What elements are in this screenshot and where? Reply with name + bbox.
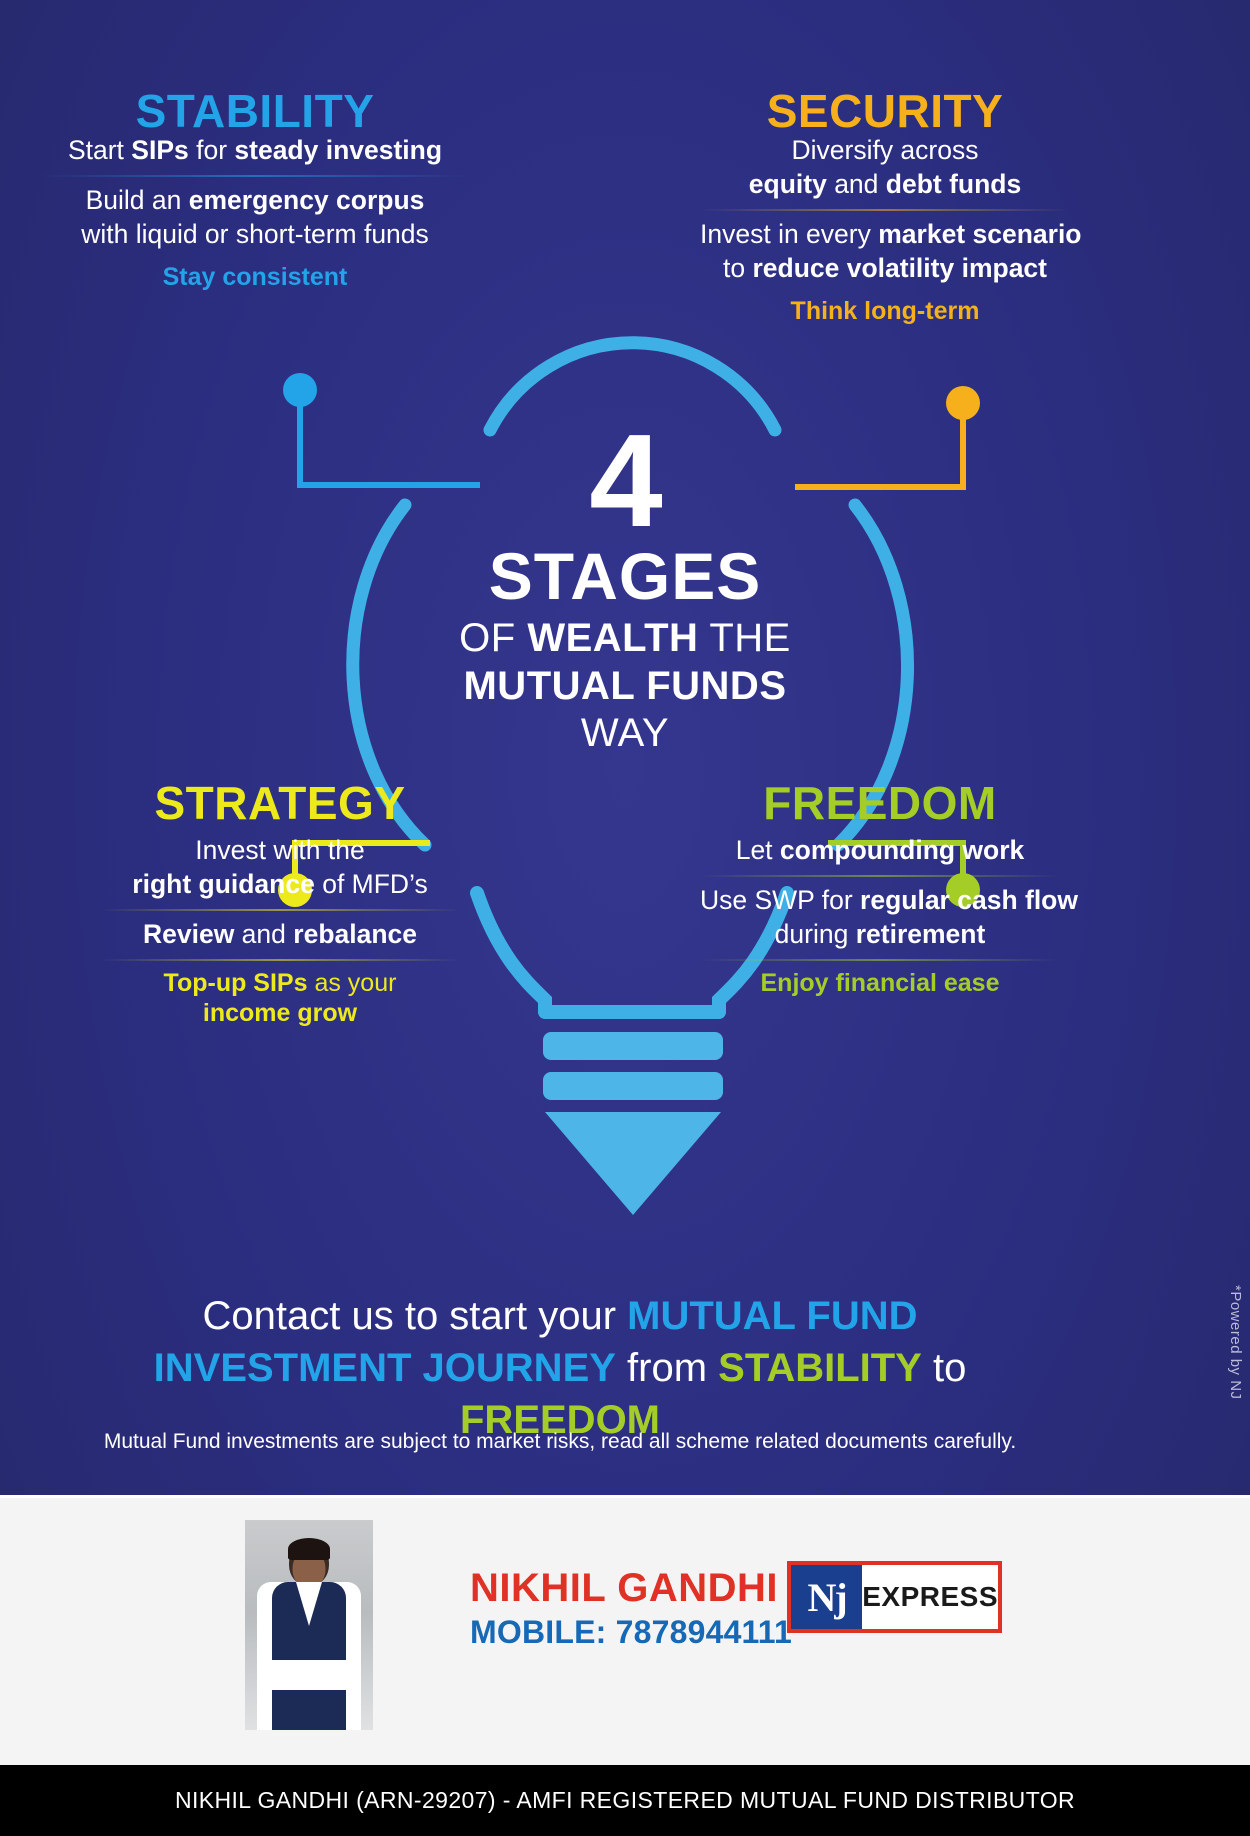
photo-hair <box>288 1538 330 1560</box>
quadrant-tag-stability: Stay consistent <box>40 262 470 292</box>
quadrant-tag-freedom: Enjoy financial ease <box>700 968 1060 998</box>
arn-text: NIKHIL GANDHI (ARN-29207) - AMFI REGISTE… <box>175 1787 1075 1814</box>
quadrant-body-freedom-b: Use SWP for regular cash flow during ret… <box>700 884 1060 952</box>
quadrant-tag-security: Think long-term <box>700 296 1070 326</box>
quadrant-freedom: FREEDOM Let compounding work Use SWP for… <box>700 780 1060 998</box>
divider-strategy-2 <box>100 959 460 961</box>
quadrant-title-stability: STABILITY <box>40 88 470 134</box>
quadrant-title-strategy: STRATEGY <box>100 780 460 826</box>
infographic-poster: 4 STAGES OF WEALTH THE MUTUAL FUNDS WAY … <box>0 0 1250 1836</box>
bulb-screw-bar-2 <box>543 1072 723 1100</box>
call-to-action: Contact us to start your MUTUAL FUND INV… <box>60 1290 1060 1446</box>
powered-by-label: *Powered by NJ <box>1227 1285 1244 1400</box>
quadrant-tag-strategy: Top-up SIPs as your income grow <box>100 968 460 1028</box>
advisor-photo <box>245 1520 373 1730</box>
bulb-base-rail <box>540 1005 725 1019</box>
divider-stability <box>40 175 470 177</box>
quadrant-body-freedom-a: Let compounding work <box>700 834 1060 868</box>
divider-security <box>700 209 1070 211</box>
quadrant-body-strategy-a: Invest with the right guidance of MFD’s <box>100 834 460 902</box>
headline-line-1: OF WEALTH THE <box>375 615 875 662</box>
advisor-details: NIKHIL GANDHI MOBILE: 7878944111 <box>470 1566 792 1651</box>
center-headline: 4 STAGES OF WEALTH THE MUTUAL FUNDS WAY <box>375 420 875 757</box>
divider-freedom-2 <box>700 959 1060 961</box>
dot-security <box>946 386 980 420</box>
divider-strategy-1 <box>100 909 460 911</box>
cta-stability: STABILITY <box>718 1346 922 1390</box>
quadrant-strategy: STRATEGY Invest with the right guidance … <box>100 780 460 1028</box>
divider-freedom-1 <box>700 875 1060 877</box>
headline-line-2: MUTUAL FUNDS <box>375 663 875 710</box>
stage-count: 4 <box>375 420 875 541</box>
quadrant-title-security: SECURITY <box>700 88 1070 134</box>
quadrant-stability: STABILITY Start SIPs for steady investin… <box>40 88 470 292</box>
dot-stability <box>283 373 317 407</box>
nj-express-logo: Nj EXPRESS <box>787 1561 1002 1633</box>
photo-arms <box>257 1660 361 1690</box>
advisor-name: NIKHIL GANDHI <box>470 1566 792 1611</box>
arn-registration-bar: NIKHIL GANDHI (ARN-29207) - AMFI REGISTE… <box>0 1765 1250 1836</box>
bulb-arrow <box>545 1112 721 1215</box>
headline-line-3: WAY <box>375 710 875 757</box>
quadrant-title-freedom: FREEDOM <box>700 780 1060 826</box>
quadrant-body-stability-b: Build an emergency corpus with liquid or… <box>40 184 470 252</box>
bulb-neck-left <box>477 893 545 1012</box>
risk-disclaimer: Mutual Fund investments are subject to m… <box>40 1430 1080 1454</box>
nj-logo-word: EXPRESS <box>862 1565 998 1629</box>
advisor-mobile[interactable]: MOBILE: 7878944111 <box>470 1613 792 1651</box>
quadrant-body-security-b: Invest in every market scenario to reduc… <box>700 218 1070 286</box>
bulb-screw-bar-1 <box>543 1032 723 1060</box>
quadrant-body-security-a: Diversify across equity and debt funds <box>700 134 1070 202</box>
contact-footer: NIKHIL GANDHI MOBILE: 7878944111 Nj EXPR… <box>0 1495 1250 1765</box>
stages-label: STAGES <box>375 543 875 609</box>
cta-mutual-fund: MUTUAL FUND <box>627 1294 917 1338</box>
quadrant-body-strategy-b: Review and rebalance <box>100 918 460 952</box>
cta-investment-journey: INVESTMENT JOURNEY <box>154 1346 616 1390</box>
quadrant-body-stability-a: Start SIPs for steady investing <box>40 134 470 168</box>
quadrant-security: SECURITY Diversify across equity and deb… <box>700 88 1070 326</box>
nj-logo-mark: Nj <box>791 1565 862 1629</box>
